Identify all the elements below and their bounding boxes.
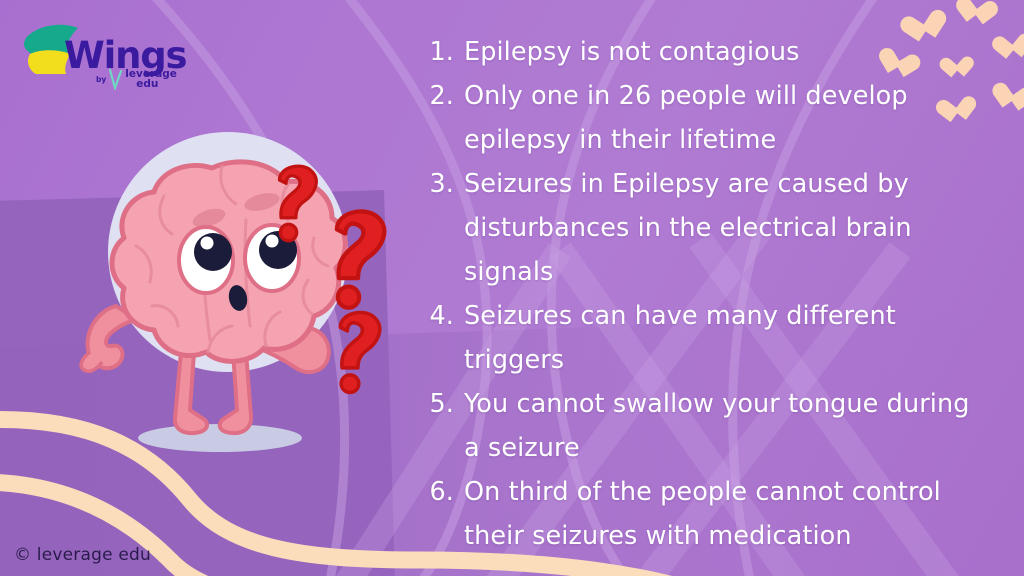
list-item-text: Epilepsy is not contagious — [464, 30, 978, 74]
eye-highlight-left — [201, 237, 214, 250]
iris-left — [194, 233, 232, 271]
list-item: 5. You cannot swallow your tongue during… — [418, 382, 978, 470]
logo-by-label: by — [96, 75, 106, 84]
list-item: 4. Seizures can have many different trig… — [418, 294, 978, 382]
list-item-number: 3. — [418, 162, 464, 206]
brain-mascot-illustration — [60, 100, 420, 470]
list-item: 2. Only one in 26 people will develop ep… — [418, 74, 978, 162]
heart-icon — [999, 35, 1024, 64]
copyright-notice: © leverage edu — [14, 545, 151, 565]
question-mark-icon — [340, 312, 379, 392]
list-item-number: 1. — [418, 30, 464, 74]
list-item-text: Seizures can have many different trigger… — [464, 294, 978, 382]
slide-canvas: Wings by leverage edu — [0, 0, 1024, 576]
logo-parent-line2: edu — [125, 79, 177, 90]
list-item-number: 5. — [418, 382, 464, 426]
list-item-text: Seizures in Epilepsy are caused by distu… — [464, 162, 978, 294]
check-swoosh-icon — [109, 68, 122, 90]
list-item-text: On third of the people cannot control th… — [464, 470, 978, 558]
epilepsy-facts-list: 1. Epilepsy is not contagious 2. Only on… — [418, 30, 978, 558]
list-item: 1. Epilepsy is not contagious — [418, 30, 978, 74]
logo-parent-brand: leverage edu — [125, 69, 177, 90]
list-item-text: You cannot swallow your tongue during a … — [464, 382, 978, 470]
list-item: 3. Seizures in Epilepsy are caused by di… — [418, 162, 978, 294]
logo-subline: by leverage edu — [96, 68, 177, 90]
list-item: 6. On third of the people cannot control… — [418, 470, 978, 558]
wings-logo[interactable]: Wings by leverage edu — [18, 14, 198, 92]
heart-icon — [996, 84, 1024, 115]
list-item-number: 4. — [418, 294, 464, 338]
question-mark-icon — [337, 211, 385, 307]
list-item-text: Only one in 26 people will develop epile… — [464, 74, 978, 162]
list-item-number: 2. — [418, 74, 464, 118]
eye-highlight-right — [266, 235, 279, 248]
list-item-number: 6. — [418, 470, 464, 514]
heart-icon — [960, 0, 990, 29]
